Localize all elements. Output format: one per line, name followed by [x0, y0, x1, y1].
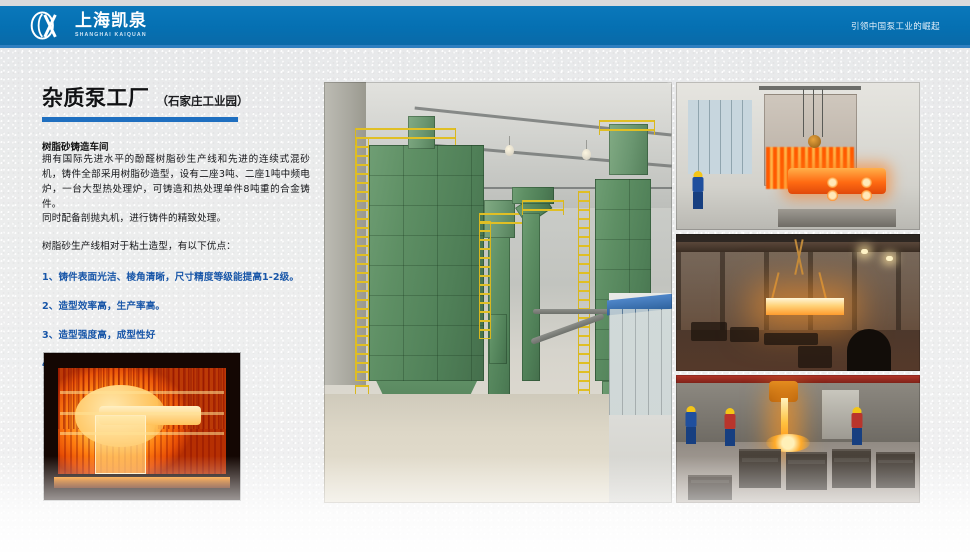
- list-item: 3、造型强度高，成型性好: [42, 327, 310, 341]
- list-item: 1、铸件表面光洁、棱角清晰，尺寸精度等级能提高1-2级。: [42, 269, 310, 283]
- brand-logo[interactable]: 上海凯泉 SHANGHAI KAIQUAN: [28, 10, 147, 41]
- body-paragraph-3: 树脂砂生产线相对于粘土造型，有以下优点：: [42, 240, 310, 255]
- photo-border: [676, 82, 920, 230]
- casting-workshop-photo: [324, 82, 672, 503]
- furnace-interior-photo: [44, 353, 240, 500]
- title-underline-rule: [42, 117, 238, 122]
- header-tagline: 引领中国泵工业的崛起: [851, 20, 940, 32]
- heat-treatment-furnace-photo: [676, 82, 920, 230]
- slide-canvas: 上海凯泉 SHANGHAI KAIQUAN 引领中国泵工业的崛起 杂质泵工厂 （…: [0, 0, 970, 552]
- photo-border: [676, 375, 920, 503]
- body-paragraph-1: 拥有国际先进水平的酚醛树脂砂生产线和先进的连续式混砂机，铸件全部采用树脂砂造型，…: [42, 153, 310, 212]
- kaiquan-logo-icon: [28, 10, 68, 41]
- logo-english-text: SHANGHAI KAIQUAN: [75, 33, 147, 38]
- page-title-main: 杂质泵工厂: [42, 82, 150, 112]
- molten-metal-pouring-photo: [676, 375, 920, 503]
- photo-border: [676, 234, 920, 371]
- body-paragraph-2: 同时配备剖抛丸机，进行铸件的精致处理。: [42, 212, 310, 227]
- page-title: 杂质泵工厂 （石家庄工业园）: [42, 82, 310, 112]
- page-header: 上海凯泉 SHANGHAI KAIQUAN 引领中国泵工业的崛起: [0, 6, 970, 45]
- logo-chinese-text: 上海凯泉: [75, 13, 147, 30]
- page-title-sub: （石家庄工业园）: [157, 93, 249, 109]
- photo-border: [324, 82, 672, 503]
- list-item: 2、造型效率高，生产率高。: [42, 298, 310, 312]
- hot-casting-lifting-photo: [676, 234, 920, 371]
- content-text-column: 杂质泵工厂 （石家庄工业园） 树脂砂铸造车间 拥有国际先进水平的酚醛树脂砂生产线…: [42, 82, 310, 370]
- photo-border: [44, 353, 240, 500]
- section-heading: 树脂砂铸造车间: [42, 139, 310, 153]
- header-underline: [0, 45, 970, 48]
